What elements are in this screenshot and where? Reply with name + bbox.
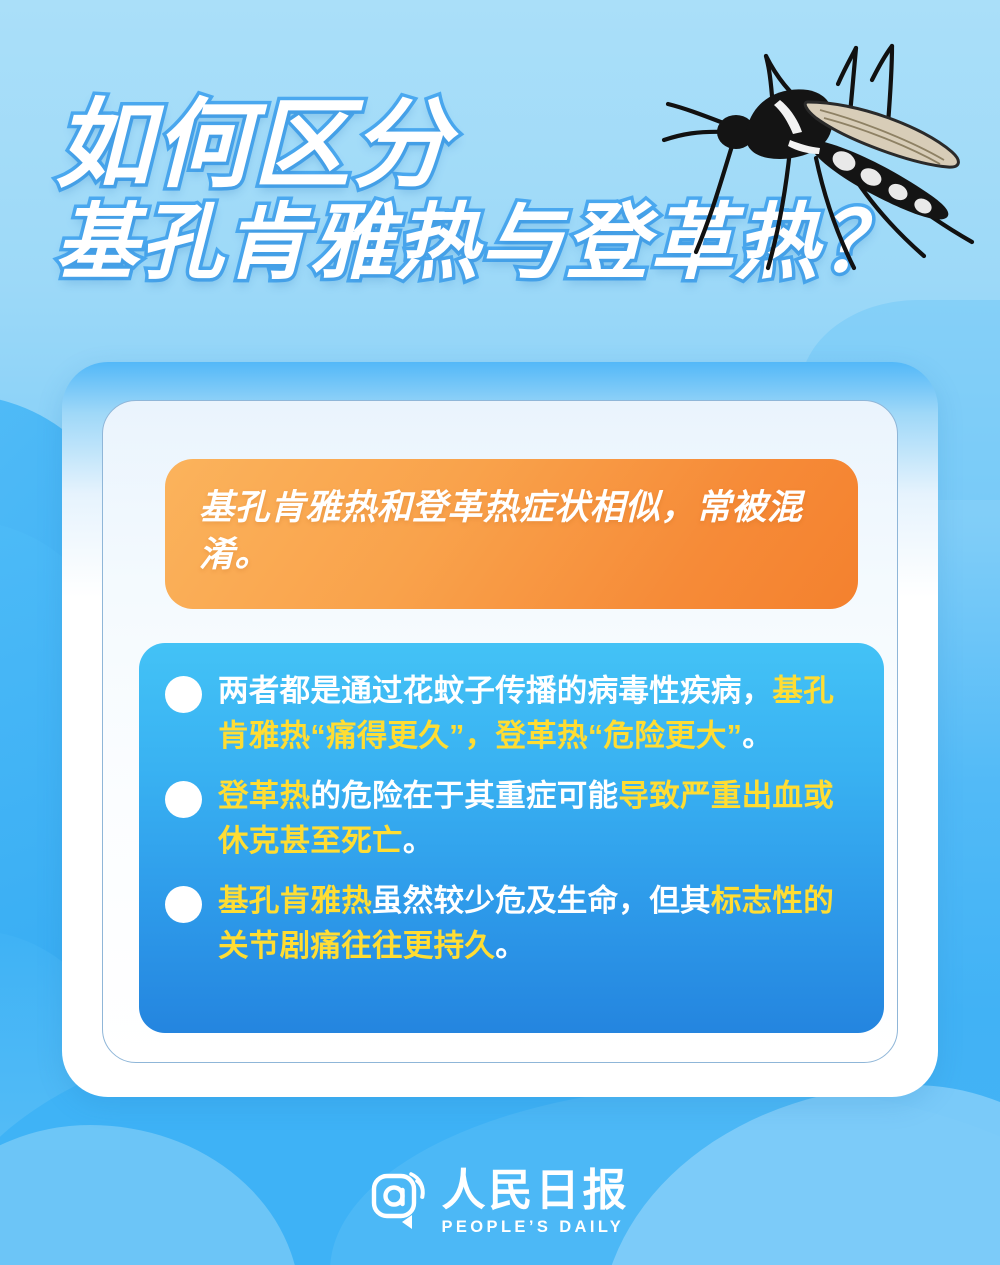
bullet-dot-icon bbox=[165, 781, 202, 818]
summary-banner-text: 基孔肯雅热和登革热症状相似，常被混淆。 bbox=[199, 485, 824, 579]
bullet-text-3: 基孔肯雅热虽然较少危及生命，但其标志性的关节剧痛往往更持久。 bbox=[218, 879, 850, 968]
bullet-text-2: 登革热的危险在于其重症可能导致严重出血或休克甚至死亡。 bbox=[218, 774, 850, 863]
plain-phrase: 虽然较少危及生命，但其 bbox=[372, 884, 711, 918]
mosquito-illustration bbox=[640, 28, 1000, 290]
summary-banner: 基孔肯雅热和登革热症状相似，常被混淆。 bbox=[165, 459, 858, 609]
highlighted-phrase: 登革热 bbox=[218, 779, 310, 813]
plain-phrase: 。 bbox=[742, 719, 773, 753]
bullet-dot-icon bbox=[165, 886, 202, 923]
content-card-inner: 基孔肯雅热和登革热症状相似，常被混淆。 两者都是通过花蚊子传播的病毒性疾病，基孔… bbox=[102, 400, 898, 1063]
list-item: 登革热的危险在于其重症可能导致严重出血或休克甚至死亡。 bbox=[165, 774, 850, 863]
list-item: 两者都是通过花蚊子传播的病毒性疾病，基孔肯雅热“痛得更久”，登革热“危险更大”。 bbox=[165, 669, 850, 758]
plain-phrase: 。 bbox=[403, 824, 434, 858]
logo-name-en: PEOPLE’S DAILY bbox=[442, 1219, 625, 1236]
bullet-text-1: 两者都是通过花蚊子传播的病毒性疾病，基孔肯雅热“痛得更久”，登革热“危险更大”。 bbox=[218, 669, 850, 758]
plain-phrase: 。 bbox=[495, 929, 526, 963]
highlighted-phrase: 基孔肯雅热 bbox=[218, 884, 372, 918]
logo-name-cn: 人民日报 bbox=[442, 1169, 630, 1213]
logo-text-column: 人民日报 PEOPLE’S DAILY bbox=[442, 1169, 630, 1236]
list-item: 基孔肯雅热虽然较少危及生命，但其标志性的关节剧痛往往更持久。 bbox=[165, 879, 850, 968]
bullet-panel: 两者都是通过花蚊子传播的病毒性疾病，基孔肯雅热“痛得更久”，登革热“危险更大”。… bbox=[139, 643, 884, 1033]
content-card-outer: 基孔肯雅热和登革热症状相似，常被混淆。 两者都是通过花蚊子传播的病毒性疾病，基孔… bbox=[62, 362, 938, 1097]
plain-phrase: 的危险在于其重症可能 bbox=[310, 779, 618, 813]
bullet-dot-icon bbox=[165, 676, 202, 713]
footer-branding: 人民日报 PEOPLE’S DAILY bbox=[0, 1169, 1000, 1236]
poster-root: 如何区分 基孔肯雅热与登革热？ bbox=[0, 0, 1000, 1265]
plain-phrase: 两者都是通过花蚊子传播的病毒性疾病， bbox=[218, 674, 772, 708]
peoples-daily-logo: 人民日报 PEOPLE’S DAILY bbox=[371, 1169, 630, 1236]
at-sign-speaker-icon bbox=[371, 1171, 431, 1235]
